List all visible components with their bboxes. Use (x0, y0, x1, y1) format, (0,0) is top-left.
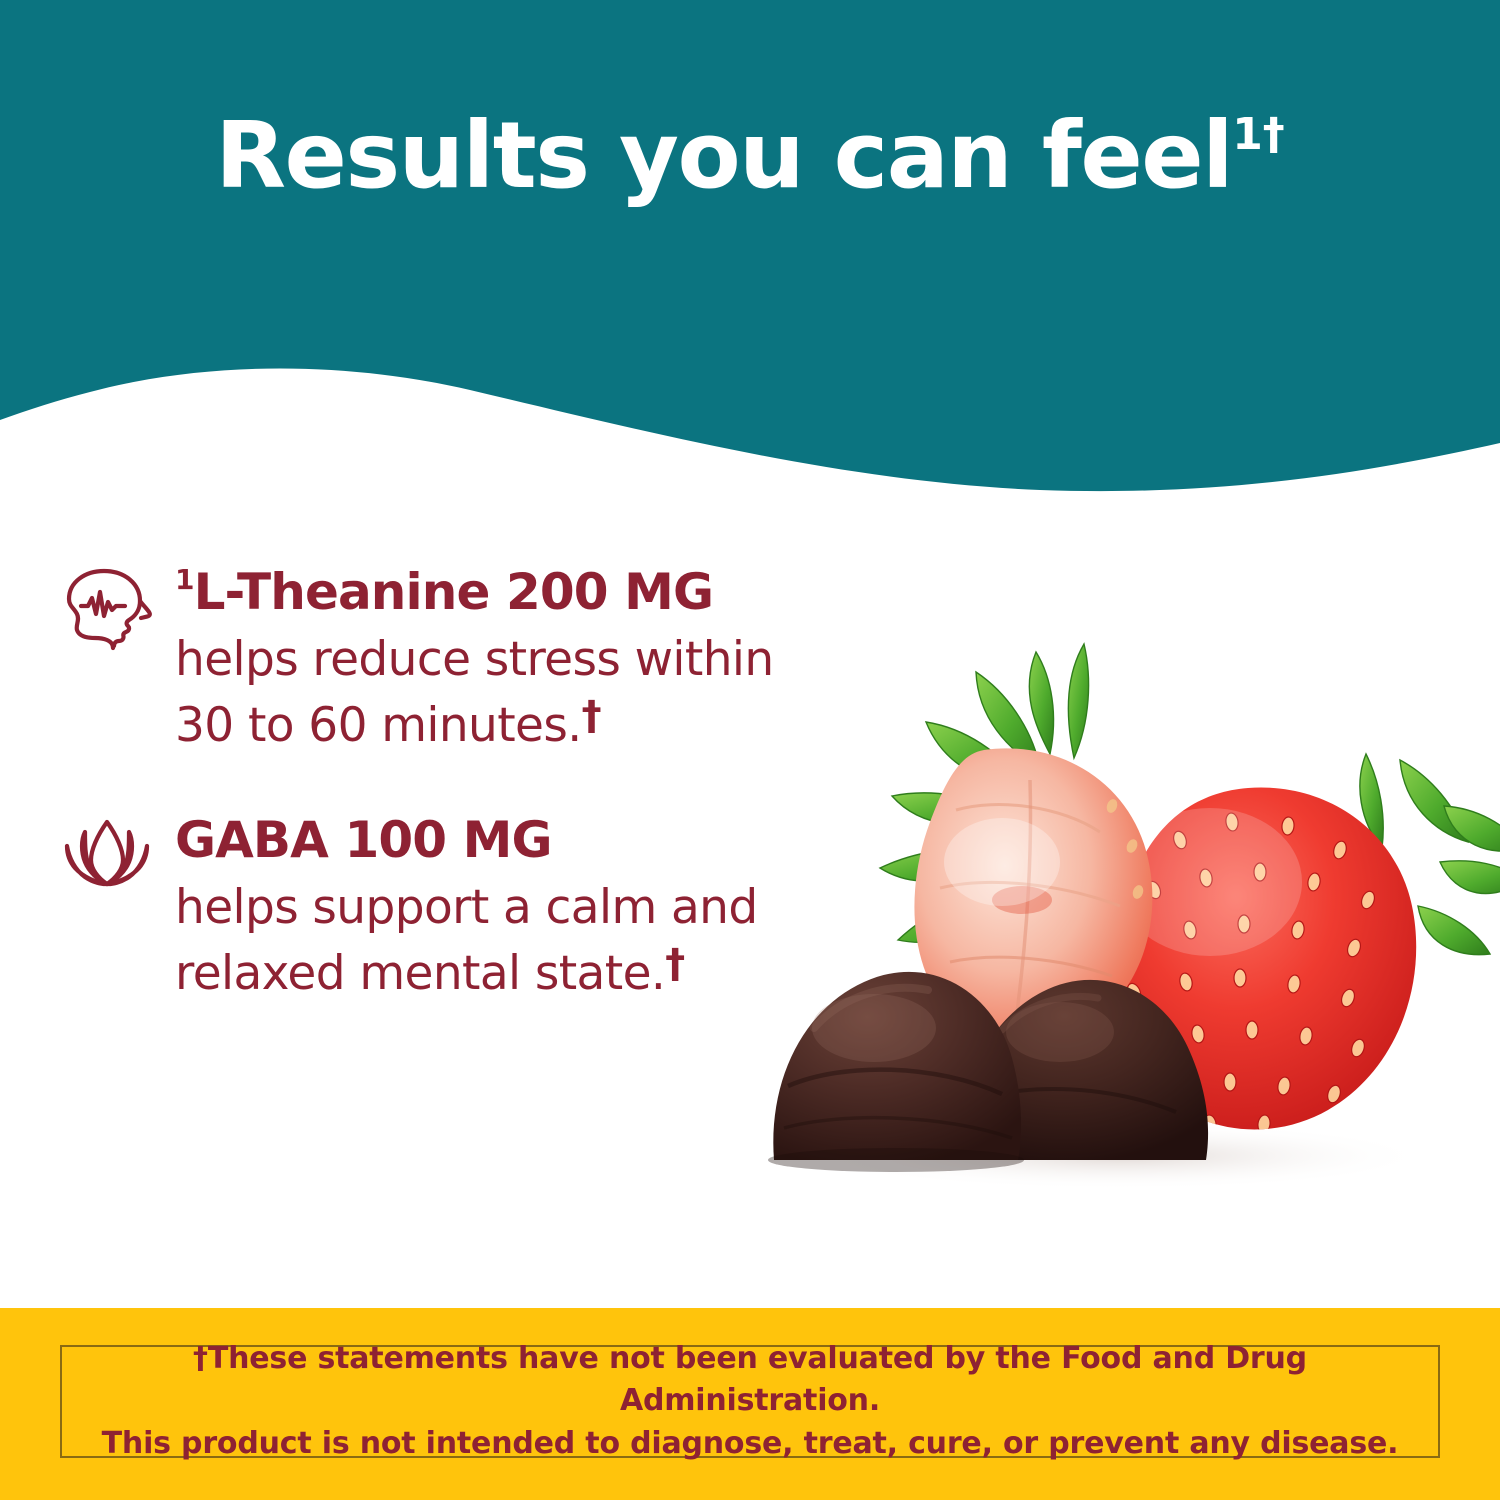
benefit-item-gaba: GABA 100 MG helps support a calm and rel… (55, 808, 795, 1004)
head-brainwave-icon (55, 560, 175, 656)
product-benefits-infographic: Results you can feel1† 1L-Theanine 200 M… (0, 0, 1500, 1500)
disclaimer-line-1: †These statements have not been evaluate… (70, 1338, 1430, 1423)
disclaimer-footer: †These statements have not been evaluate… (0, 1308, 1500, 1500)
benefit-text-l-theanine: 1L-Theanine 200 MG helps reduce stress w… (175, 560, 795, 756)
benefit-title-label: L-Theanine 200 MG (194, 563, 714, 621)
benefits-list: 1L-Theanine 200 MG helps reduce stress w… (55, 560, 795, 1056)
benefit-superscript: 1 (175, 563, 194, 596)
benefit-text-gaba: GABA 100 MG helps support a calm and rel… (175, 808, 795, 1004)
benefit-item-l-theanine: 1L-Theanine 200 MG helps reduce stress w… (55, 560, 795, 756)
disclaimer-box: †These statements have not been evaluate… (60, 1345, 1440, 1458)
benefit-title-l-theanine: 1L-Theanine 200 MG (175, 560, 795, 625)
benefit-body-gaba: helps support a calm and relaxed mental … (175, 877, 795, 1004)
hero-banner: Results you can feel1† (0, 0, 1500, 520)
benefit-title-gaba: GABA 100 MG (175, 808, 795, 873)
product-photo (740, 600, 1500, 1220)
benefit-title-label: GABA 100 MG (175, 811, 552, 869)
page-title: Results you can feel1† (0, 108, 1500, 205)
benefit-body-label: helps reduce stress within 30 to 60 minu… (175, 632, 774, 753)
lotus-flower-icon (55, 808, 175, 904)
benefit-dagger: † (665, 941, 684, 987)
benefit-dagger: † (582, 693, 601, 739)
hero-wave-background (0, 0, 1500, 520)
product-illustration (740, 600, 1500, 1220)
benefit-body-l-theanine: helps reduce stress within 30 to 60 minu… (175, 629, 795, 756)
headline-text: Results you can feel (215, 102, 1232, 209)
disclaimer-line-2: This product is not intended to diagnose… (70, 1423, 1430, 1466)
headline-superscript: 1† (1232, 109, 1285, 160)
disclaimer-text: †These statements have not been evaluate… (62, 1338, 1438, 1466)
